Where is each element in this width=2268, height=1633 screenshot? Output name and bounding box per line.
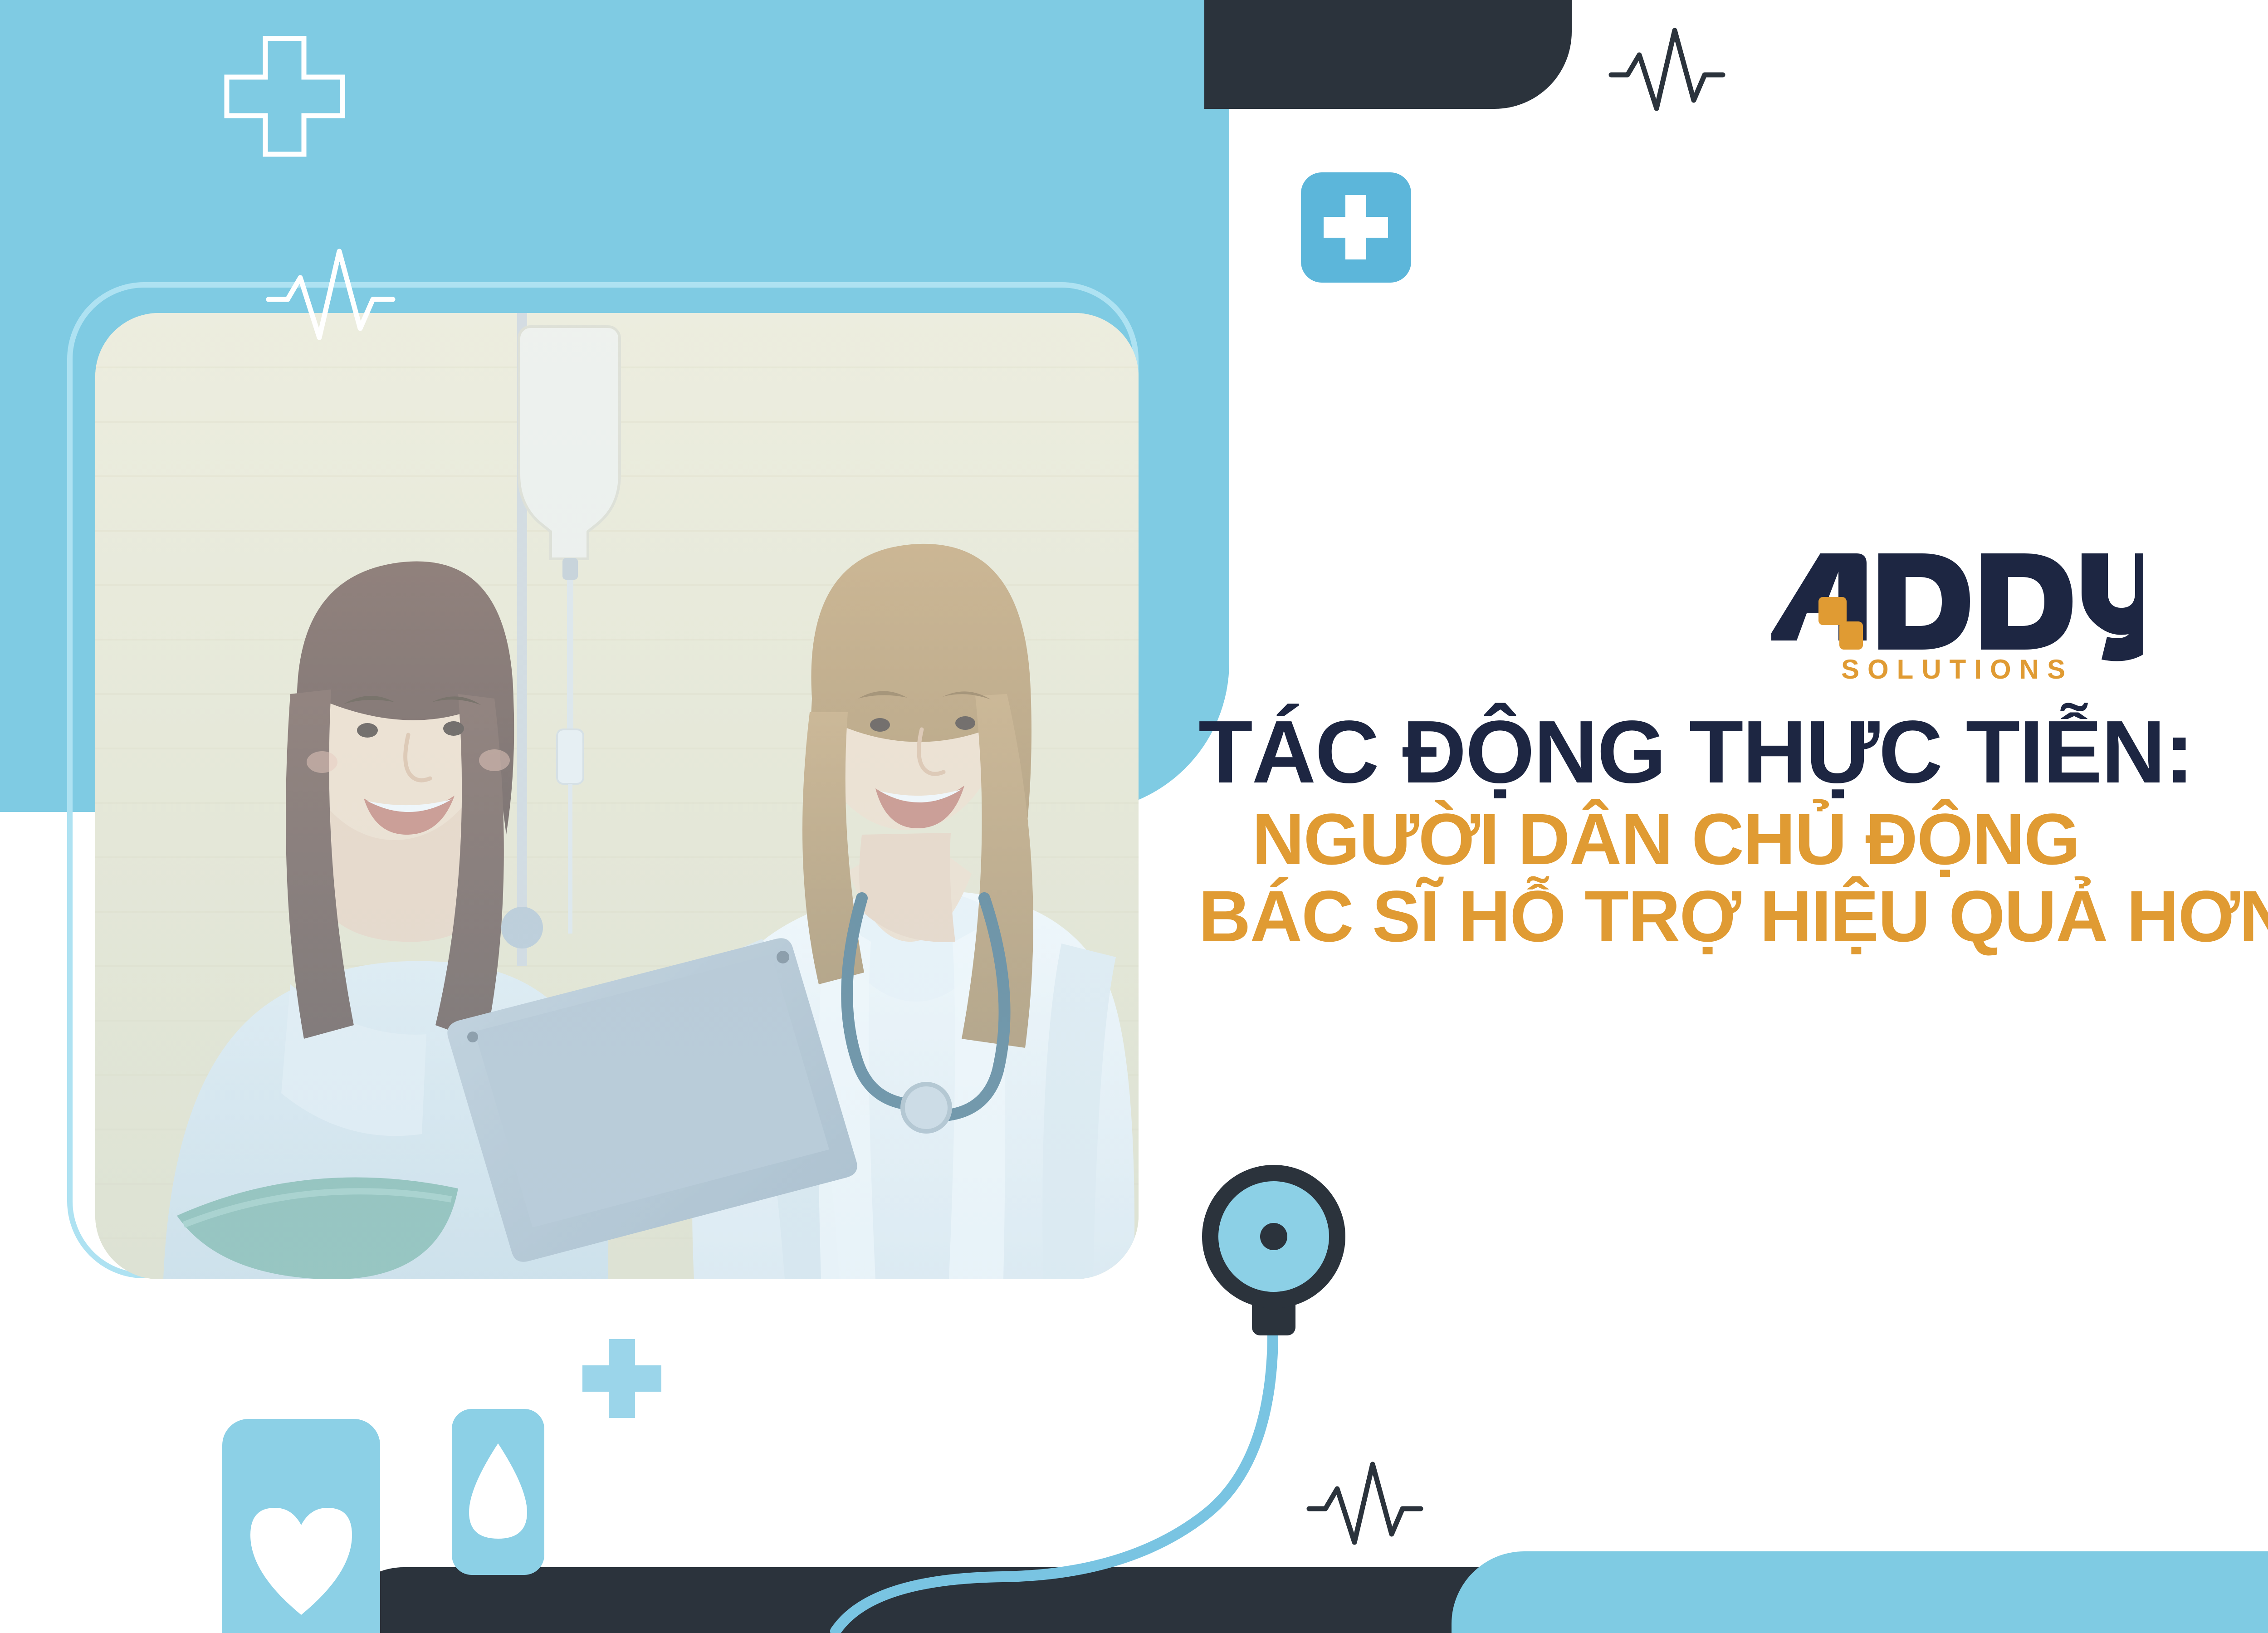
headline-block: TÁC ĐỘNG THỰC TIỄN: NGƯỜI DÂN CHỦ ĐỘNG B…: [1179, 708, 2268, 953]
top-dark-slab: [1204, 0, 1572, 109]
heartbeat-line-icon: [1611, 30, 1723, 108]
photo-illustration: [95, 313, 1139, 1279]
water-drop-card-icon: [452, 1409, 544, 1575]
heartbeat-line-icon: [1309, 1464, 1421, 1542]
doctor-patient-photo: [95, 313, 1139, 1279]
headline-line-3: BÁC SĨ HỖ TRỢ HIỆU QUẢ HƠN: [1198, 880, 2268, 953]
logo-artwork: SOLUTIONS: [1771, 544, 2143, 685]
headline-line-1: TÁC ĐỘNG THỰC TIỄN:: [1198, 708, 2268, 797]
poster-canvas: SOLUTIONS TÁC ĐỘNG THỰC TIỄN: NGƯỜI DÂN …: [0, 0, 2268, 1633]
first-aid-badge-icon: [1301, 172, 1411, 283]
headline-line-2: NGƯỜI DÂN CHỦ ĐỘNG: [1252, 803, 2268, 875]
addy-solutions-logo: SOLUTIONS: [1771, 544, 2143, 685]
logo-tagline-text: SOLUTIONS: [1841, 654, 2073, 684]
bottom-blue-bar: [1452, 1551, 2268, 1633]
bottom-dark-bar: [336, 1567, 1560, 1633]
plus-icon: [582, 1339, 661, 1418]
